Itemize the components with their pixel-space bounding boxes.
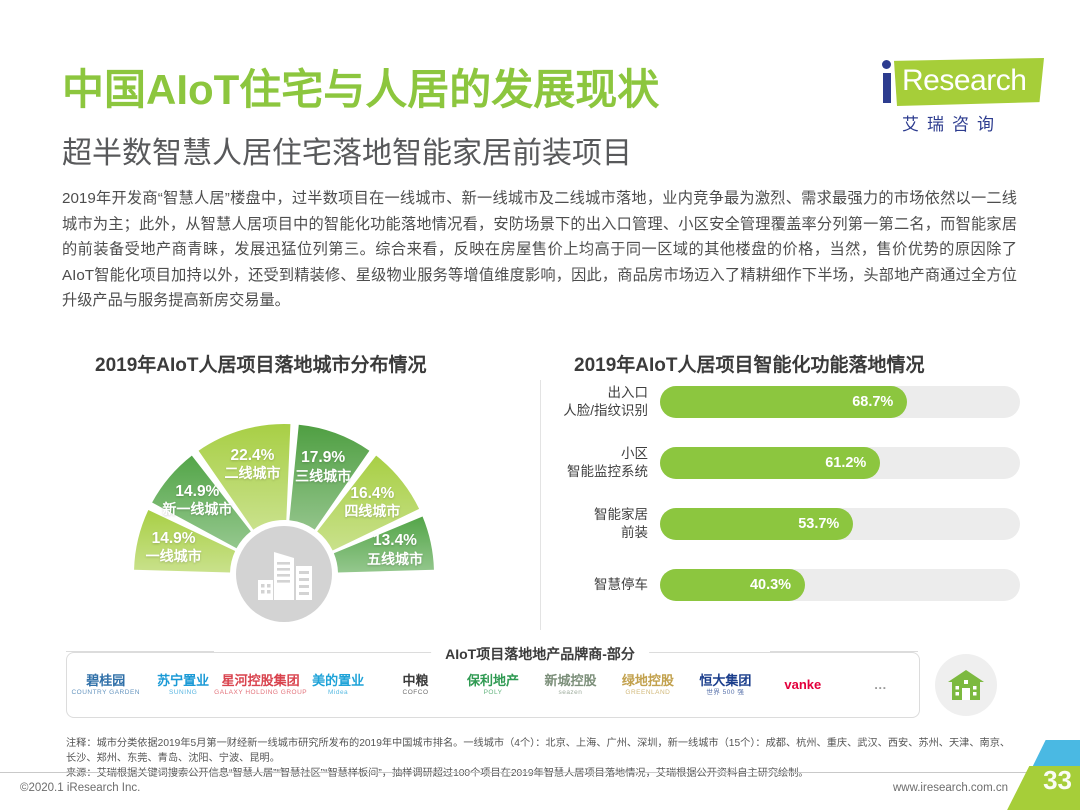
logo-i-stem [883, 73, 891, 103]
brand-name: 苏宁置业 [157, 674, 209, 688]
bar-category-line: 人脸/指纹识别 [563, 402, 648, 420]
bar-category-label: 智慧停车 [560, 565, 648, 605]
brand-logo-mark: … [874, 678, 887, 692]
bar-fill: 53.7% [660, 508, 853, 540]
brand-logo-mark: 碧桂园COUNTRY GARDEN [71, 674, 140, 695]
bar-category-line: 小区 [621, 445, 648, 463]
bar-fill: 61.2% [660, 447, 880, 479]
bar-row: 小区智能监控系统61.2% [560, 443, 1020, 483]
source-label: 来源： [66, 768, 97, 779]
house-icon [947, 668, 985, 702]
building-icon [236, 526, 332, 622]
iresearch-logo: Research 艾瑞咨询 [872, 48, 1044, 136]
brand-logo: 苏宁置业SUNING [144, 653, 221, 717]
note-label: 注释： [66, 738, 97, 749]
brand-latin-name: GALAXY HOLDING GROUP [214, 689, 307, 696]
bar-category-label: 小区智能监控系统 [560, 443, 648, 483]
brand-logo-mark: 中粮COFCO [403, 674, 429, 695]
bar-category-line: 出入口 [608, 384, 649, 402]
brand-name: 绿地控股 [622, 674, 674, 688]
bar-chart: 出入口人脸/指纹识别68.7%小区智能监控系统61.2%智能家居前装53.7%智… [560, 382, 1020, 632]
slide-root: 中国AIoT住宅与人居的发展现状 超半数智慧人居住宅落地智能家居前装项目 Res… [0, 0, 1080, 810]
brand-name: 美的置业 [312, 674, 364, 688]
bar-track: 68.7% [660, 386, 1020, 418]
brand-latin-name: SUNING [169, 689, 197, 696]
bar-row: 出入口人脸/指纹识别68.7% [560, 382, 1020, 422]
bar-value-label: 68.7% [852, 386, 893, 418]
logo-i-dot [882, 60, 891, 69]
brand-latin-name: COUNTRY GARDEN [71, 689, 140, 696]
bar-value-label: 40.3% [750, 569, 791, 601]
brand-name: vanke [784, 678, 821, 692]
bar-category-label: 智能家居前装 [560, 504, 648, 544]
bar-track: 53.7% [660, 508, 1020, 540]
brand-logo: 星河控股集团GALAXY HOLDING GROUP [222, 653, 299, 717]
brand-logo: 恒大集团世界 500 强 [687, 653, 764, 717]
footnotes: 注释：城市分类依据2019年5月第一财经新一线城市研究所发布的2019年中国城市… [66, 736, 1016, 781]
brand-latin-name: seazen [558, 689, 582, 696]
source-text: 艾瑞根据关键词搜索公开信息“智慧人居”“智慧社区”“智慧样板间”，抽样调研超过1… [97, 768, 809, 779]
bar-value-label: 61.2% [825, 447, 866, 479]
brand-logo-mark: 保利地产POLY [467, 674, 519, 695]
fan-chart-hub [236, 526, 332, 622]
logo-chinese-name: 艾瑞咨询 [902, 110, 1002, 135]
logo-wordmark: Research [902, 64, 1026, 98]
brand-logo: 碧桂园COUNTRY GARDEN [67, 653, 144, 717]
bar-category-line: 智能家居 [594, 506, 648, 524]
brand-logo-mark: 新城控股seazen [544, 674, 596, 695]
fan-chart: 14.9%一线城市14.9%新一线城市22.4%二线城市17.9%三线城市16.… [70, 378, 530, 638]
brand-logo-mark: 星河控股集团GALAXY HOLDING GROUP [214, 674, 307, 695]
brand-logo-mark: 绿地控股GREENLAND [622, 674, 674, 695]
bar-track: 61.2% [660, 447, 1020, 479]
brand-name: 保利地产 [467, 674, 519, 688]
bar-fill: 68.7% [660, 386, 907, 418]
logos-caption-rule-right [770, 651, 918, 652]
brand-logo-mark: 美的置业Midea [312, 674, 364, 695]
brand-name: 碧桂园 [86, 674, 125, 688]
bar-fill: 40.3% [660, 569, 805, 601]
note-text: 城市分类依据2019年5月第一财经新一线城市研究所发布的2019年中国城市排名。… [66, 738, 1010, 764]
house-badge [935, 654, 997, 716]
brand-logo: 美的置业Midea [299, 653, 376, 717]
brand-name: 中粮 [403, 674, 429, 688]
page-title: 中国AIoT住宅与人居的发展现状 [62, 56, 659, 117]
panel-divider [540, 380, 541, 630]
brand-latin-name: GREENLAND [625, 689, 670, 696]
brand-logo-mark: vanke [784, 678, 821, 692]
brand-latin-name: COFCO [403, 689, 429, 696]
brand-logo: vanke [764, 653, 841, 717]
logos-caption: AIoT项目落地地产品牌商-部分 [431, 644, 649, 664]
bar-category-line: 智能监控系统 [567, 463, 648, 481]
bar-value-label: 53.7% [798, 508, 839, 540]
brand-logo-mark: 苏宁置业SUNING [157, 674, 209, 695]
logos-caption-rule-left [66, 651, 214, 652]
brand-logo-mark: 恒大集团世界 500 强 [699, 674, 751, 695]
intro-paragraph: 2019年开发商“智慧人居”楼盘中，过半数项目在一线城市、新一线城市及二线城市落… [62, 186, 1017, 314]
bar-category-line: 前装 [621, 524, 648, 542]
source-line: 来源：艾瑞根据关键词搜索公开信息“智慧人居”“智慧社区”“智慧样板间”，抽样调研… [66, 766, 1016, 781]
bar-row: 智慧停车40.3% [560, 565, 1020, 605]
page-number: 33 [1043, 765, 1072, 796]
bar-chart-title: 2019年AIoT人居项目智能化功能落地情况 [574, 350, 924, 377]
bar-category-label: 出入口人脸/指纹识别 [560, 382, 648, 422]
footer-divider [0, 772, 1045, 773]
bar-row: 智能家居前装53.7% [560, 504, 1020, 544]
brand-logo: … [842, 653, 919, 717]
brand-name: 星河控股集团 [222, 674, 300, 688]
brand-name: 新城控股 [544, 674, 596, 688]
page-subtitle: 超半数智慧人居住宅落地智能家居前装项目 [62, 128, 632, 172]
bar-track: 40.3% [660, 569, 1020, 601]
brand-latin-name: POLY [484, 689, 503, 696]
copyright: ©2020.1 iResearch Inc. [20, 782, 140, 794]
brand-latin-name: Midea [328, 689, 348, 696]
note-line: 注释：城市分类依据2019年5月第一财经新一线城市研究所发布的2019年中国城市… [66, 736, 1016, 766]
fan-chart-title: 2019年AIoT人居项目落地城市分布情况 [95, 350, 426, 377]
brand-name: … [874, 678, 887, 692]
brand-latin-name: 世界 500 强 [706, 689, 744, 696]
brand-name: 恒大集团 [699, 674, 751, 688]
bar-category-line: 智慧停车 [594, 576, 648, 594]
